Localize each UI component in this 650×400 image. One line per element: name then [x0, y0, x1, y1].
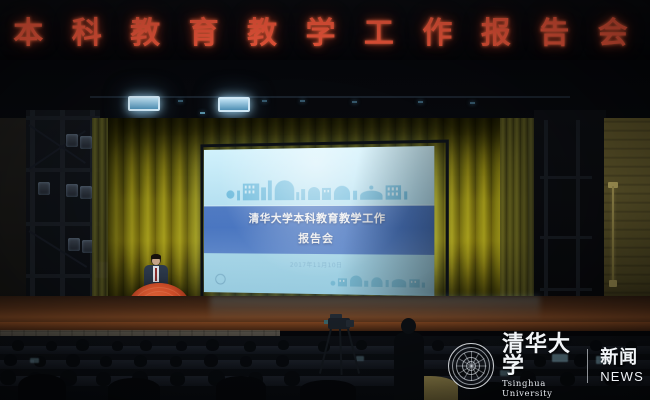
audience-head: [66, 354, 80, 367]
audience-head: [46, 341, 57, 351]
stage-light-right: [218, 97, 250, 112]
watermark-divider: [587, 349, 588, 383]
camera-lens: [346, 320, 354, 327]
foreground-audience-member: [216, 376, 266, 400]
slide-date: 2017年11月10日: [204, 259, 434, 270]
audience-head: [284, 371, 300, 386]
campus-skyline-silhouette: [225, 177, 414, 200]
operator-head: [401, 318, 416, 334]
audience-head: [12, 340, 24, 351]
tsinghua-university-seal: [448, 343, 494, 389]
presenter-tie: [155, 268, 157, 281]
tower-post: [60, 110, 65, 320]
seal-spokes: [456, 351, 486, 381]
foreground-audience-member: [108, 378, 160, 400]
slide-corner-mark: [215, 274, 225, 285]
audience-head: [100, 356, 112, 367]
audience-head: [356, 340, 367, 350]
audience-head: [276, 355, 289, 367]
tower-post: [30, 110, 35, 320]
audience-head: [76, 339, 89, 351]
foreground-audience-member: [18, 374, 66, 400]
stage-floor-reflection: [210, 296, 540, 322]
audience-head: [112, 341, 123, 351]
tower-lamp: [80, 136, 92, 149]
audience-head: [278, 340, 289, 350]
projection-screen: 清华大学本科教育教学工作 报告会 2017年11月10日: [204, 146, 434, 296]
slide-title-band: 清华大学本科教育教学工作 报告会: [204, 206, 434, 255]
watermark-university: 清华大学 Tsinghua University: [502, 333, 575, 399]
audience-head: [204, 354, 218, 367]
led-banner-text: 本 科 教 育 教 学 工 作 报 告 会: [0, 8, 650, 52]
camera-operator: [394, 318, 424, 400]
slide-title-line2: 报告会: [204, 230, 434, 247]
tower-rail: [26, 222, 100, 226]
hanging-fixture-foot: [609, 280, 617, 287]
right-lighting-truss: [540, 120, 596, 315]
truss-indicator-dot: [470, 102, 475, 104]
audience-head: [0, 370, 16, 385]
tower-lamp: [68, 238, 80, 251]
audience-head: [170, 372, 185, 386]
truss-bar: [540, 176, 592, 179]
watermark-university-en: Tsinghua University: [502, 379, 575, 399]
truss-bar: [540, 236, 592, 239]
presentation-slide: 清华大学本科教育教学工作 报告会 2017年11月10日: [204, 146, 434, 296]
tower-lamp: [66, 184, 78, 197]
presenter-hair: [151, 254, 161, 259]
tower-lamp: [38, 182, 50, 195]
truss-indicator-dot: [178, 100, 183, 102]
watermark-university-cn: 清华大学: [502, 333, 575, 377]
audience-head: [4, 354, 17, 366]
truss-indicator-dot: [300, 100, 305, 102]
foreground-audience-member: [300, 380, 356, 400]
tower-rail: [26, 116, 100, 120]
watermark-news-cn: 新闻: [600, 349, 644, 367]
hanging-fixture-rod: [612, 186, 614, 282]
audience-head: [432, 340, 444, 351]
watermark: 清华大学 Tsinghua University 新闻 NEWS: [448, 340, 644, 392]
audience-head: [134, 355, 147, 367]
device-screen-glow: [30, 358, 39, 363]
audience-head: [244, 341, 256, 352]
tower-rail: [26, 168, 100, 172]
truss-indicator-dot: [352, 101, 357, 103]
tower-lamp: [66, 134, 78, 147]
operator-body: [394, 332, 424, 400]
stage-light-left: [128, 96, 160, 111]
audience-head: [176, 341, 187, 351]
truss-bar: [544, 120, 548, 315]
truss-indicator-dot: [262, 100, 267, 102]
lighting-truss-bar: [90, 96, 570, 98]
audience-head: [170, 356, 182, 367]
watermark-news: 新闻 NEWS: [600, 349, 644, 384]
audience-head: [240, 356, 252, 367]
right-brick-wall: [604, 118, 650, 320]
photo-scene: 本 科 教 育 教 学 工 作 报 告 会: [0, 0, 650, 400]
audience-head: [206, 339, 219, 351]
tower-lamp: [80, 186, 92, 199]
device-screen-glow: [356, 356, 364, 361]
tower-rail: [26, 274, 100, 278]
truss-bar: [540, 288, 592, 291]
slide-title-line1: 清华大学本科教育教学工作: [204, 210, 434, 226]
stage-curtain-right: [500, 118, 534, 308]
campus-skyline-silhouette-small: [330, 273, 428, 288]
audience-head: [140, 340, 152, 351]
watermark-news-en: NEWS: [600, 369, 644, 384]
lighting-truss-tower: [26, 110, 100, 320]
truss-indicator-dot: [200, 112, 205, 114]
truss-indicator-dot: [418, 101, 423, 103]
truss-bar: [576, 120, 580, 315]
